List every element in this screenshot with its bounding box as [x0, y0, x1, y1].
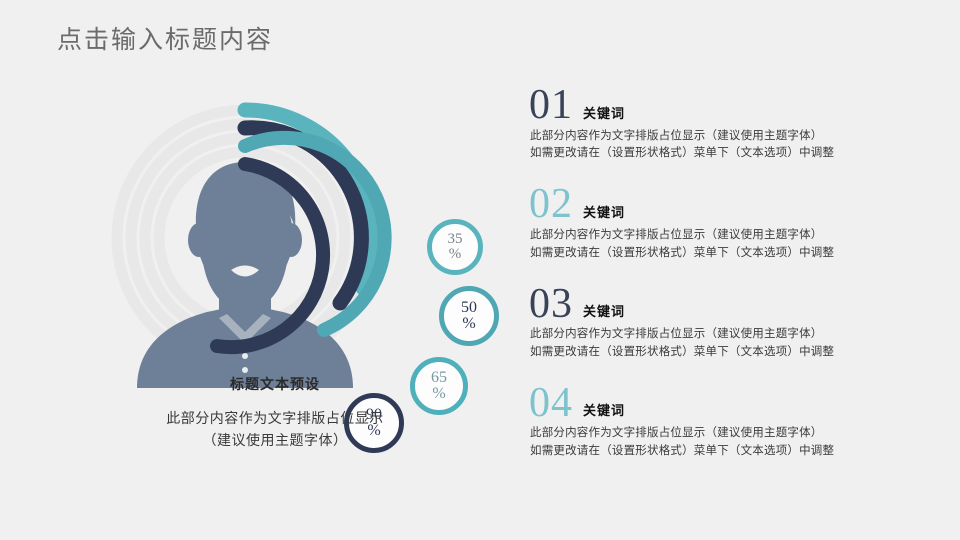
percent-symbol-65: %: [432, 386, 445, 402]
list-item-02-keyword: 关键词: [573, 202, 625, 224]
list-item-02-line2: 如需更改请在（设置形状格式）菜单下（文本选项）中调整: [530, 245, 929, 263]
percent-symbol-35: %: [449, 247, 462, 262]
list-item-02-number: 02: [529, 185, 573, 224]
percent-symbol-50: %: [462, 316, 475, 332]
percent-value-50: 50: [461, 300, 477, 316]
slide-canvas: 点击输入标题内容: [0, 0, 960, 540]
list-item-02-headline: 02 关键词: [529, 185, 929, 224]
percent-bubble-35: 35 %: [427, 219, 483, 275]
list-item-01-line1: 此部分内容作为文字排版占位显示（建议使用主题字体）: [530, 128, 929, 146]
list-item-02-body: 此部分内容作为文字排版占位显示（建议使用主题字体） 如需更改请在（设置形状格式）…: [529, 227, 929, 263]
arc-chart-svg: [95, 88, 435, 398]
feature-list: 01 关键词 此部分内容作为文字排版占位显示（建议使用主题字体） 如需更改请在（…: [529, 86, 929, 483]
list-item-04-line1: 此部分内容作为文字排版占位显示（建议使用主题字体）: [530, 425, 929, 443]
list-item-01-number: 01: [529, 86, 573, 125]
list-item-02: 02 关键词 此部分内容作为文字排版占位显示（建议使用主题字体） 如需更改请在（…: [529, 185, 929, 262]
list-item-03-keyword: 关键词: [573, 301, 625, 323]
percent-value-65: 65: [431, 370, 447, 386]
list-item-02-line1: 此部分内容作为文字排版占位显示（建议使用主题字体）: [530, 227, 929, 245]
list-item-03: 03 关键词 此部分内容作为文字排版占位显示（建议使用主题字体） 如需更改请在（…: [529, 285, 929, 362]
donut-arc-graphic: 35 % 50 % 65 % 90 %: [95, 88, 435, 398]
caption-line-1: 此部分内容作为文字排版占位显示: [120, 408, 430, 430]
list-item-01-line2: 如需更改请在（设置形状格式）菜单下（文本选项）中调整: [530, 145, 929, 163]
list-item-04-keyword: 关键词: [573, 400, 625, 422]
list-item-04-body: 此部分内容作为文字排版占位显示（建议使用主题字体） 如需更改请在（设置形状格式）…: [529, 425, 929, 461]
page-title: 点击输入标题内容: [57, 20, 273, 56]
percent-bubble-50: 50 %: [439, 286, 499, 346]
list-item-01: 01 关键词 此部分内容作为文字排版占位显示（建议使用主题字体） 如需更改请在（…: [529, 86, 929, 163]
percent-value-35: 35: [448, 232, 463, 247]
list-item-04-line2: 如需更改请在（设置形状格式）菜单下（文本选项）中调整: [530, 443, 929, 461]
list-item-01-keyword: 关键词: [573, 103, 625, 125]
list-item-03-line1: 此部分内容作为文字排版占位显示（建议使用主题字体）: [530, 326, 929, 344]
list-item-03-headline: 03 关键词: [529, 285, 929, 324]
list-item-01-headline: 01 关键词: [529, 86, 929, 125]
list-item-04-number: 04: [529, 384, 573, 423]
caption-line-2: （建议使用主题字体）: [120, 430, 430, 452]
list-item-04: 04 关键词 此部分内容作为文字排版占位显示（建议使用主题字体） 如需更改请在（…: [529, 384, 929, 461]
left-caption-block: 标题文本预设 此部分内容作为文字排版占位显示 （建议使用主题字体）: [120, 374, 430, 451]
list-item-03-number: 03: [529, 285, 573, 324]
list-item-03-body: 此部分内容作为文字排版占位显示（建议使用主题字体） 如需更改请在（设置形状格式）…: [529, 326, 929, 362]
list-item-01-body: 此部分内容作为文字排版占位显示（建议使用主题字体） 如需更改请在（设置形状格式）…: [529, 128, 929, 164]
caption-heading: 标题文本预设: [120, 374, 430, 394]
list-item-04-headline: 04 关键词: [529, 384, 929, 423]
list-item-03-line2: 如需更改请在（设置形状格式）菜单下（文本选项）中调整: [530, 344, 929, 362]
